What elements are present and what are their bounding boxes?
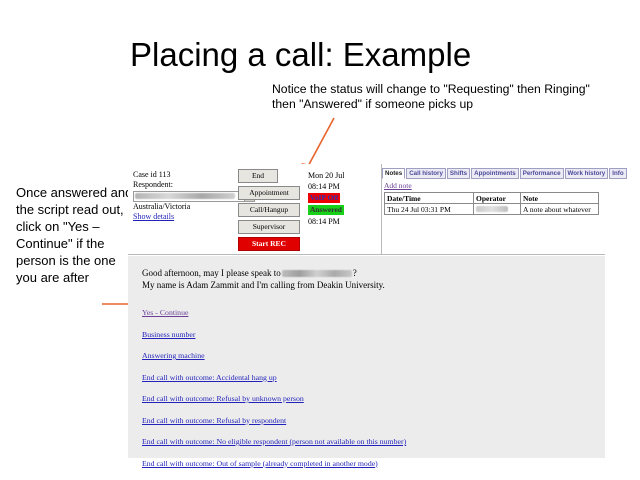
option-refusal-by-respondent[interactable]: End call with outcome: Refusal by respon… <box>142 416 592 425</box>
status-time-1: 08:14 PM <box>308 181 378 192</box>
call-status-badge: Answered <box>308 205 344 215</box>
option-refusal-unknown-person[interactable]: End call with outcome: Refusal by unknow… <box>142 394 592 403</box>
app-top-bar: Case id 113 Respondent: Australia/Victor… <box>128 164 605 255</box>
respondent-select[interactable] <box>133 191 255 202</box>
status-panel: Mon 20 Jul 08:14 PM VoIP Off Answered 08… <box>308 170 378 227</box>
notes-table: Date/Time Operator Note Thu 24 Jul 03:31… <box>384 192 599 215</box>
add-note-link[interactable]: Add note <box>384 181 412 190</box>
tab-performance[interactable]: Performance <box>520 168 564 179</box>
tab-info[interactable]: Info <box>609 168 626 179</box>
annotation-yes-continue: Once answered and the script read out, c… <box>16 184 136 286</box>
call-hangup-button[interactable]: Call/Hangup <box>238 203 300 217</box>
operator-redacted-value <box>476 206 508 212</box>
status-day: Mon 20 Jul <box>308 170 378 181</box>
right-tab-panel: Notes Call history Shifts Appointments P… <box>381 164 606 254</box>
tab-notes[interactable]: Notes <box>382 168 405 179</box>
tab-call-history[interactable]: Call history <box>406 168 446 179</box>
script-options-list: Yes - Continue Business number Answering… <box>142 308 592 480</box>
cell-operator <box>474 204 521 215</box>
end-button[interactable]: End <box>238 169 278 183</box>
respondent-name-redacted <box>282 270 352 277</box>
option-yes-continue[interactable]: Yes - Continue <box>142 308 592 317</box>
script-greeting: Good afternoon, may I please speak to? M… <box>142 267 385 291</box>
slide-canvas: Placing a call: Example Notice the statu… <box>0 0 640 480</box>
option-answering-machine[interactable]: Answering machine <box>142 351 592 360</box>
respondent-redacted-value <box>135 193 235 199</box>
page-title: Placing a call: Example <box>130 36 600 74</box>
call-action-buttons: End Appointment Call/Hangup Supervisor S… <box>238 169 300 254</box>
script-greeting-line1: Good afternoon, may I please speak to <box>142 268 281 278</box>
annotation-status-change: Notice the status will change to "Reques… <box>272 82 602 112</box>
option-out-of-sample[interactable]: End call with outcome: Out of sample (al… <box>142 459 592 468</box>
script-greeting-line2: My name is Adam Zammit and I'm calling f… <box>142 280 385 290</box>
table-header-row: Date/Time Operator Note <box>385 193 599 204</box>
voip-status-badge: VoIP Off <box>308 193 340 203</box>
tab-work-history[interactable]: Work history <box>565 168 609 179</box>
status-time-2: 08:14 PM <box>308 216 378 227</box>
column-header-datetime: Date/Time <box>385 193 474 204</box>
option-no-eligible-respondent[interactable]: End call with outcome: No eligible respo… <box>142 437 592 446</box>
column-header-note: Note <box>521 193 599 204</box>
script-greeting-suffix: ? <box>353 268 357 278</box>
embedded-app-screenshot: Case id 113 Respondent: Australia/Victor… <box>128 164 605 457</box>
appointment-button[interactable]: Appointment <box>238 186 300 200</box>
tab-shifts[interactable]: Shifts <box>447 168 470 179</box>
show-details-link[interactable]: Show details <box>133 212 174 221</box>
tab-appointments[interactable]: Appointments <box>471 168 519 179</box>
tab-bar: Notes Call history Shifts Appointments P… <box>382 168 606 178</box>
start-rec-button[interactable]: Start REC <box>238 237 300 251</box>
column-header-operator: Operator <box>474 193 521 204</box>
option-business-number[interactable]: Business number <box>142 330 592 339</box>
table-row[interactable]: Thu 24 Jul 03:31 PM A note about whateve… <box>385 204 599 215</box>
cell-datetime: Thu 24 Jul 03:31 PM <box>385 204 474 215</box>
supervisor-button[interactable]: Supervisor <box>238 220 300 234</box>
option-accidental-hang-up[interactable]: End call with outcome: Accidental hang u… <box>142 373 592 382</box>
cell-note: A note about whatever <box>521 204 599 215</box>
call-script-panel: Good afternoon, may I please speak to? M… <box>128 255 605 458</box>
